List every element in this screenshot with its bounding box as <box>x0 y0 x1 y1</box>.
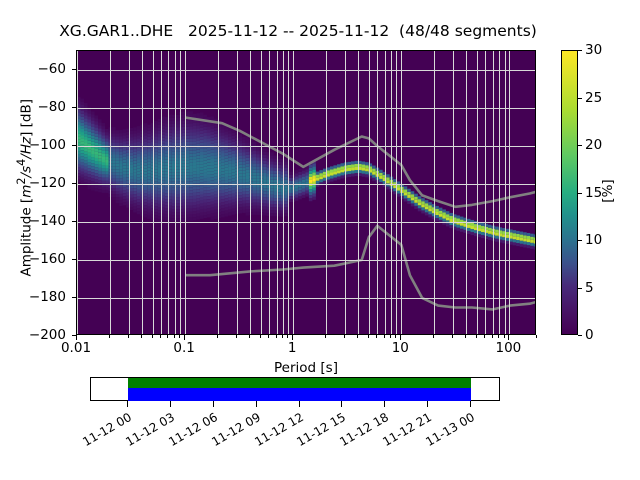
density-cell <box>144 138 148 141</box>
density-cell <box>211 217 215 220</box>
density-cell <box>239 192 243 195</box>
density-cell <box>284 207 288 210</box>
density-cell <box>98 171 102 174</box>
density-cell <box>246 173 250 176</box>
density-cell <box>189 196 193 199</box>
density-cell <box>175 133 179 136</box>
density-cell <box>228 188 232 191</box>
density-cell <box>112 176 116 179</box>
density-cell <box>189 151 193 154</box>
density-cell <box>277 171 281 174</box>
density-cell <box>203 200 207 203</box>
density-cell <box>228 210 232 213</box>
x-tick-mark-minor <box>128 335 129 338</box>
density-cell <box>326 180 330 183</box>
density-cell <box>91 160 95 163</box>
density-cell <box>154 218 158 221</box>
grid-line-vertical <box>153 51 154 334</box>
density-cell <box>460 229 464 232</box>
density-cell <box>88 153 92 156</box>
density-cell <box>418 205 422 208</box>
density-cell <box>119 191 123 194</box>
density-cell <box>95 131 99 134</box>
density-cell <box>316 178 320 181</box>
density-cell <box>277 156 281 159</box>
density-cell <box>246 158 250 161</box>
density-cell <box>221 160 225 163</box>
density-cell <box>516 243 520 246</box>
density-cell <box>460 226 464 229</box>
density-cell <box>84 173 88 176</box>
density-cell <box>221 132 225 135</box>
density-cell <box>326 174 330 177</box>
density-cell <box>81 126 85 129</box>
density-cell <box>225 195 229 198</box>
density-cell <box>88 116 92 119</box>
density-cell <box>302 189 306 192</box>
density-cell <box>309 168 313 171</box>
density-cell <box>256 169 260 172</box>
density-cell <box>123 196 127 199</box>
density-cell <box>144 196 148 199</box>
density-cell <box>147 152 151 155</box>
density-cell <box>112 142 116 145</box>
density-cell <box>414 197 418 200</box>
colorbar-tick-mark <box>578 50 582 51</box>
density-cell <box>186 200 190 203</box>
density-cell <box>270 195 274 198</box>
density-cell <box>203 124 207 127</box>
density-cell <box>154 185 158 188</box>
grid-line-vertical <box>377 51 378 334</box>
density-cell <box>137 166 141 169</box>
density-cell <box>225 174 229 177</box>
density-cell <box>239 156 243 159</box>
timeline-tick-mark <box>256 401 257 407</box>
grid-line-vertical <box>453 51 454 334</box>
density-cell <box>225 131 229 134</box>
density-cell <box>189 202 193 205</box>
density-cell <box>116 136 120 139</box>
density-cell <box>137 196 141 199</box>
density-cell <box>88 141 92 144</box>
density-cell <box>154 173 158 176</box>
density-cell <box>98 168 102 171</box>
density-cell <box>189 114 193 117</box>
density-cell <box>193 205 197 208</box>
density-cell <box>133 136 137 139</box>
density-cell <box>446 214 450 217</box>
density-cell <box>130 207 134 210</box>
density-cell <box>200 213 204 216</box>
density-cell <box>534 240 536 243</box>
grid-line-vertical <box>509 51 510 334</box>
density-cell <box>175 164 179 167</box>
density-cell <box>193 135 197 138</box>
density-cell <box>298 169 302 172</box>
density-cell <box>84 139 88 142</box>
density-cell <box>242 176 246 179</box>
density-cell <box>232 154 236 157</box>
density-cell <box>84 124 88 127</box>
density-cell <box>467 231 471 234</box>
density-cell <box>211 192 215 195</box>
density-cell <box>186 197 190 200</box>
density-cell <box>95 118 99 121</box>
density-cell <box>312 163 316 166</box>
density-cell <box>133 170 137 173</box>
density-cell <box>137 163 141 166</box>
grid-line-vertical <box>485 51 486 334</box>
density-cell <box>527 236 531 239</box>
density-cell <box>154 188 158 191</box>
density-cell <box>270 174 274 177</box>
density-cell <box>481 232 485 235</box>
density-cell <box>256 178 260 181</box>
density-cell <box>211 199 215 202</box>
density-cell <box>105 153 109 156</box>
density-cell <box>147 173 151 176</box>
density-cell <box>225 210 229 213</box>
density-cell <box>144 160 148 163</box>
density-cell <box>263 152 267 155</box>
density-cell <box>175 170 179 173</box>
colorbar-tick-label: 0 <box>585 327 594 343</box>
grid-line-vertical <box>385 51 386 334</box>
density-cell <box>312 197 316 200</box>
density-cell <box>372 166 376 169</box>
density-cell <box>130 161 134 164</box>
density-cell <box>88 113 92 116</box>
density-cell <box>133 152 137 155</box>
density-cell <box>189 133 193 136</box>
density-cell <box>351 161 355 164</box>
density-cell <box>186 148 190 151</box>
density-cell <box>137 211 141 214</box>
x-tick-mark-minor <box>452 335 453 338</box>
density-cell <box>154 154 158 157</box>
density-cell <box>189 190 193 193</box>
density-cell <box>98 138 102 141</box>
density-cell <box>84 179 88 182</box>
density-cell <box>256 200 260 203</box>
density-cell <box>154 197 158 200</box>
density-cell <box>116 158 120 161</box>
density-cell <box>91 127 95 130</box>
density-cell <box>130 177 134 180</box>
density-cell <box>232 130 236 133</box>
density-cell <box>527 245 531 248</box>
density-cell <box>175 215 179 218</box>
density-cell <box>189 212 193 215</box>
density-cell <box>200 161 204 164</box>
density-cell <box>203 133 207 136</box>
density-cell <box>341 175 345 178</box>
density-cell <box>175 154 179 157</box>
density-cell <box>246 209 250 212</box>
density-cell <box>225 177 229 180</box>
density-cell <box>144 151 148 154</box>
density-cell <box>446 223 450 226</box>
density-cell <box>520 232 524 235</box>
density-cell <box>133 161 137 164</box>
density-cell <box>228 152 232 155</box>
density-cell <box>203 136 207 139</box>
grid-line-vertical <box>277 51 278 334</box>
density-cell <box>253 160 257 163</box>
density-cell <box>253 169 257 172</box>
density-cell <box>81 111 85 114</box>
density-cell <box>516 240 520 243</box>
density-cell <box>305 172 309 175</box>
density-cell <box>154 133 158 136</box>
density-cell <box>81 129 85 132</box>
timeline-tick-mark <box>170 401 171 407</box>
timeline-tick-mark <box>299 401 300 407</box>
density-cell <box>379 170 383 173</box>
density-cell <box>284 174 288 177</box>
density-cell <box>137 172 141 175</box>
density-cell <box>95 158 99 161</box>
density-cell <box>253 209 257 212</box>
density-cell <box>239 162 243 165</box>
density-cell <box>211 168 215 171</box>
density-cell <box>284 195 288 198</box>
density-cell <box>98 189 102 192</box>
density-cell <box>225 201 229 204</box>
density-cell <box>102 129 106 132</box>
density-cell <box>228 164 232 167</box>
density-cell <box>175 139 179 142</box>
density-cell <box>284 198 288 201</box>
density-cell <box>84 130 88 133</box>
density-cell <box>362 165 366 168</box>
density-cell <box>242 167 246 170</box>
density-cell <box>305 175 309 178</box>
density-cell <box>246 203 250 206</box>
density-cell <box>333 168 337 171</box>
density-cell <box>147 137 151 140</box>
density-cell <box>298 190 302 193</box>
density-cell <box>263 167 267 170</box>
density-cell <box>527 233 531 236</box>
density-cell <box>284 180 288 183</box>
density-cell <box>284 192 288 195</box>
density-cell <box>470 232 474 235</box>
grid-line-vertical <box>369 51 370 334</box>
density-cell <box>186 133 190 136</box>
density-cell <box>309 198 313 201</box>
density-cell <box>481 223 485 226</box>
density-cell <box>95 185 99 188</box>
density-cell <box>246 212 250 215</box>
density-cell <box>123 175 127 178</box>
density-cell <box>105 178 109 181</box>
density-cell <box>263 155 267 158</box>
density-cell <box>147 170 151 173</box>
x-tick-mark-minor <box>492 335 493 338</box>
density-cell <box>221 169 225 172</box>
density-cell <box>133 155 137 158</box>
density-cell <box>232 203 236 206</box>
timeline-coverage-bar[interactable] <box>128 388 471 401</box>
density-cell <box>435 212 439 215</box>
density-cell <box>84 115 88 118</box>
density-cell <box>196 125 200 128</box>
density-cell <box>186 169 190 172</box>
density-cell <box>439 211 443 214</box>
density-cell <box>470 229 474 232</box>
density-cell <box>175 124 179 127</box>
y-axis-title-text: Amplitude [m2/s4/Hz] [dB] <box>18 99 34 277</box>
density-cell <box>513 230 517 233</box>
density-cell <box>112 185 116 188</box>
density-cell <box>232 200 236 203</box>
density-cell <box>256 188 260 191</box>
density-cell <box>81 138 85 141</box>
density-cell <box>112 161 116 164</box>
density-cell <box>256 160 260 163</box>
density-cell <box>175 185 179 188</box>
density-cell <box>428 214 432 217</box>
density-cell <box>200 128 204 131</box>
density-cell <box>253 142 257 145</box>
density-cell <box>404 192 408 195</box>
grid-line-vertical <box>168 51 169 334</box>
density-cell <box>154 130 158 133</box>
density-cell <box>309 174 313 177</box>
density-cell <box>295 170 299 173</box>
density-cell <box>119 130 123 133</box>
density-cell <box>133 176 137 179</box>
colorbar-tick-label: 5 <box>585 280 594 296</box>
density-cell <box>284 201 288 204</box>
density-cell <box>386 174 390 177</box>
density-cell <box>133 179 137 182</box>
density-cell <box>133 188 137 191</box>
density-cell <box>98 153 102 156</box>
density-cell <box>221 214 225 217</box>
density-cell <box>203 203 207 206</box>
density-cell <box>284 213 288 216</box>
density-cell <box>123 190 127 193</box>
density-cell <box>133 133 137 136</box>
density-cell <box>147 167 151 170</box>
density-cell <box>130 189 134 192</box>
density-cell <box>330 169 334 172</box>
density-cell <box>263 200 267 203</box>
density-cell <box>277 198 281 201</box>
density-cell <box>428 208 432 211</box>
density-cell <box>81 156 85 159</box>
grid-line-vertical <box>250 51 251 334</box>
density-cell <box>84 158 88 161</box>
density-cell <box>277 180 281 183</box>
density-cell <box>91 172 95 175</box>
density-cell <box>295 179 299 182</box>
density-cell <box>411 194 415 197</box>
density-cell <box>295 198 299 201</box>
density-cell <box>175 191 179 194</box>
density-cell <box>333 174 337 177</box>
x-tick-mark-minor <box>167 335 168 338</box>
timeline-widget[interactable] <box>90 377 500 401</box>
density-cell <box>421 198 425 201</box>
density-cell <box>133 127 137 130</box>
density-cell <box>98 156 102 159</box>
density-cell <box>284 210 288 213</box>
density-cell <box>302 180 306 183</box>
density-cell <box>130 201 134 204</box>
density-cell <box>189 154 193 157</box>
density-cell <box>196 159 200 162</box>
density-cell <box>200 173 204 176</box>
density-cell <box>341 172 345 175</box>
density-cell <box>263 188 267 191</box>
density-cell <box>277 201 281 204</box>
density-cell <box>225 150 229 153</box>
density-cell <box>189 157 193 160</box>
density-cell <box>186 175 190 178</box>
density-cell <box>186 172 190 175</box>
density-cell <box>186 154 190 157</box>
density-cell <box>137 202 141 205</box>
density-cell <box>95 125 99 128</box>
density-cell <box>242 192 246 195</box>
density-cell <box>221 147 225 150</box>
density-cell <box>418 199 422 202</box>
density-cell <box>516 231 520 234</box>
ppsd-plot-area[interactable] <box>76 50 536 335</box>
density-cell <box>81 172 85 175</box>
density-cell <box>144 208 148 211</box>
density-cell <box>193 175 197 178</box>
density-cell <box>207 187 211 190</box>
density-cell <box>193 132 197 135</box>
density-cell <box>154 157 158 160</box>
density-cell <box>196 171 200 174</box>
grid-line-vertical <box>466 51 467 334</box>
density-cell <box>203 188 207 191</box>
density-cell <box>211 126 215 129</box>
density-cell <box>520 235 524 238</box>
density-cell <box>246 161 250 164</box>
density-cell <box>200 134 204 137</box>
density-cell <box>95 140 99 143</box>
density-cell <box>91 175 95 178</box>
density-cell <box>137 208 141 211</box>
density-cell <box>221 141 225 144</box>
density-cell <box>175 130 179 133</box>
x-tick-mark-minor <box>344 335 345 338</box>
density-cell <box>270 164 274 167</box>
density-cell <box>246 179 250 182</box>
density-cell <box>116 139 120 142</box>
density-cell <box>207 163 211 166</box>
density-cell <box>186 121 190 124</box>
density-cell <box>193 172 197 175</box>
density-cell <box>88 132 92 135</box>
density-cell <box>263 194 267 197</box>
density-cell <box>211 147 215 150</box>
density-cell <box>232 139 236 142</box>
density-cell <box>414 200 418 203</box>
timeline-data-bar[interactable] <box>128 378 471 388</box>
density-cell <box>189 148 193 151</box>
density-cell <box>137 187 141 190</box>
density-cell <box>119 139 123 142</box>
density-cell <box>137 205 141 208</box>
